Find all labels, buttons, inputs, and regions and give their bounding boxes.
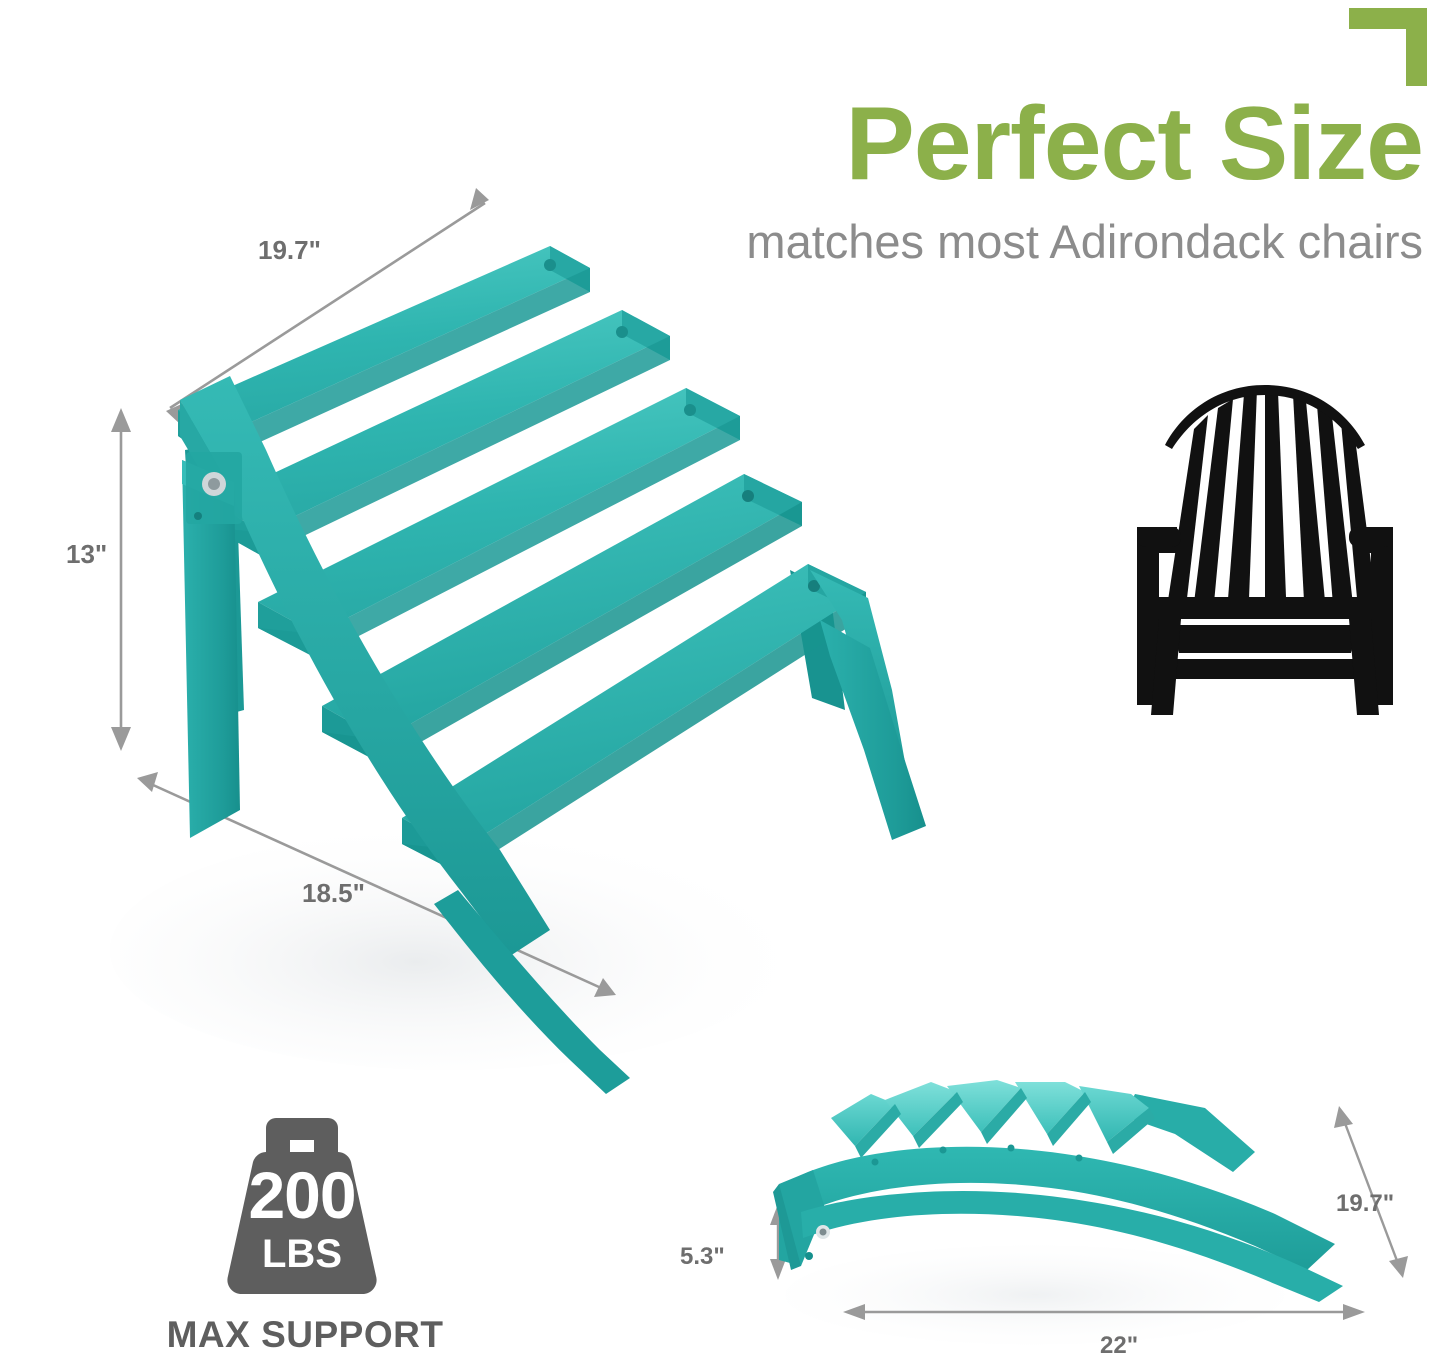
arrowhead [1334, 1106, 1353, 1128]
corner-bracket-icon [1349, 8, 1427, 86]
weight-kettlebell-icon: 200 LBS [202, 1118, 402, 1300]
dimension-label-depth: 18.5" [302, 880, 365, 906]
weight-caption: MAX SUPPORT [140, 1316, 470, 1353]
page-title: Perfect Size [845, 92, 1423, 196]
dimension-label-folded-width: 22" [1100, 1334, 1138, 1358]
adirondack-chair-silhouette-icon [1115, 375, 1415, 725]
dimension-label-height: 13" [66, 541, 107, 567]
dimension-label-width: 19.7" [258, 237, 321, 263]
arrowhead [1389, 1256, 1408, 1278]
arrowhead [1343, 1304, 1365, 1320]
arrowhead [137, 772, 158, 792]
assembled-ottoman-illustration [30, 150, 930, 1160]
folded-slat-5 [1079, 1086, 1149, 1142]
dimension-label-folded-height: 5.3" [680, 1245, 725, 1269]
arrowhead [111, 408, 131, 432]
arrowhead [770, 1259, 786, 1280]
arrowhead [111, 727, 131, 751]
weight-capacity-badge: 200 LBS MAX SUPPORT [140, 1118, 470, 1358]
infographic-canvas: Perfect Size matches most Adirondack cha… [0, 0, 1445, 1363]
dimension-label-folded-depth: 19.7" [1336, 1192, 1394, 1216]
folded-ottoman-illustration [735, 1080, 1435, 1363]
